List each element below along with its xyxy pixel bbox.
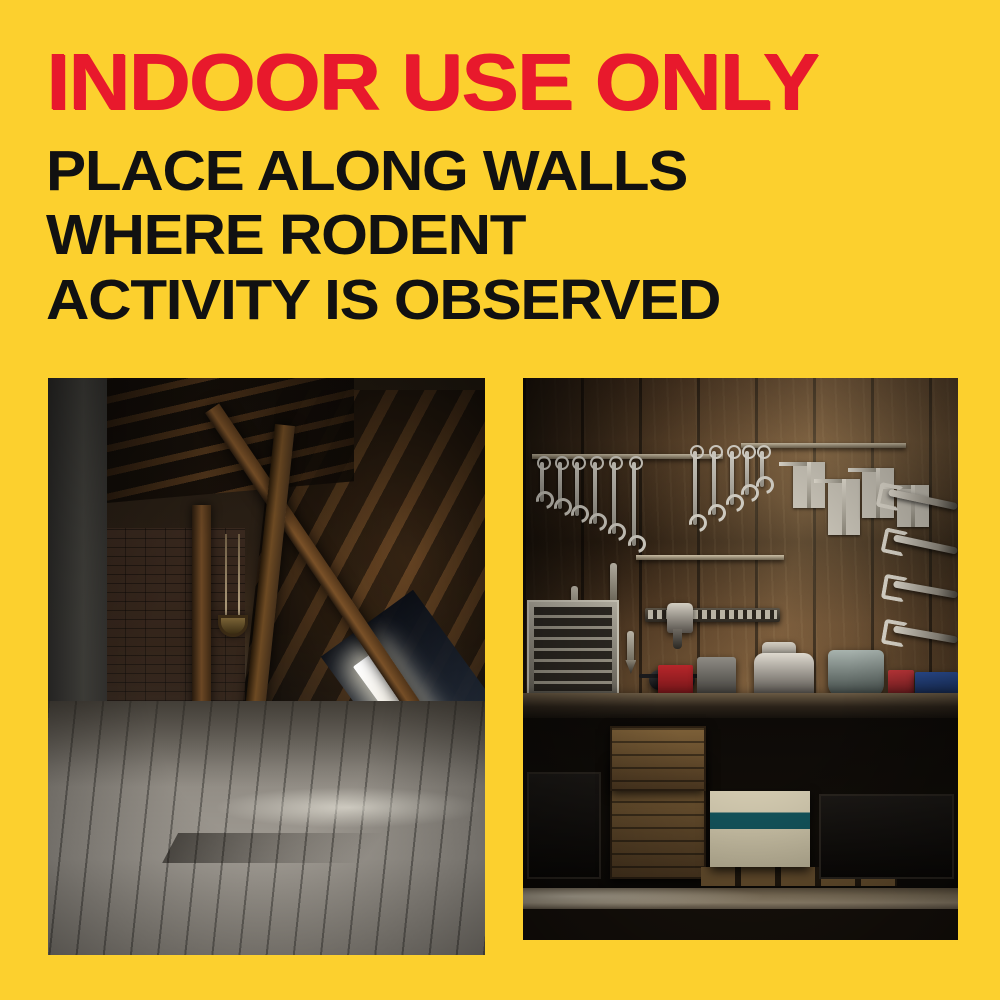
workshop-vignette [523,378,958,940]
workshop-scene [523,378,958,940]
photo-gallery [0,0,1000,1000]
attic-vignette [48,378,485,955]
photo-attic-interior [48,378,485,955]
attic-scene [48,378,485,955]
photo-workshop-garage [523,378,958,940]
